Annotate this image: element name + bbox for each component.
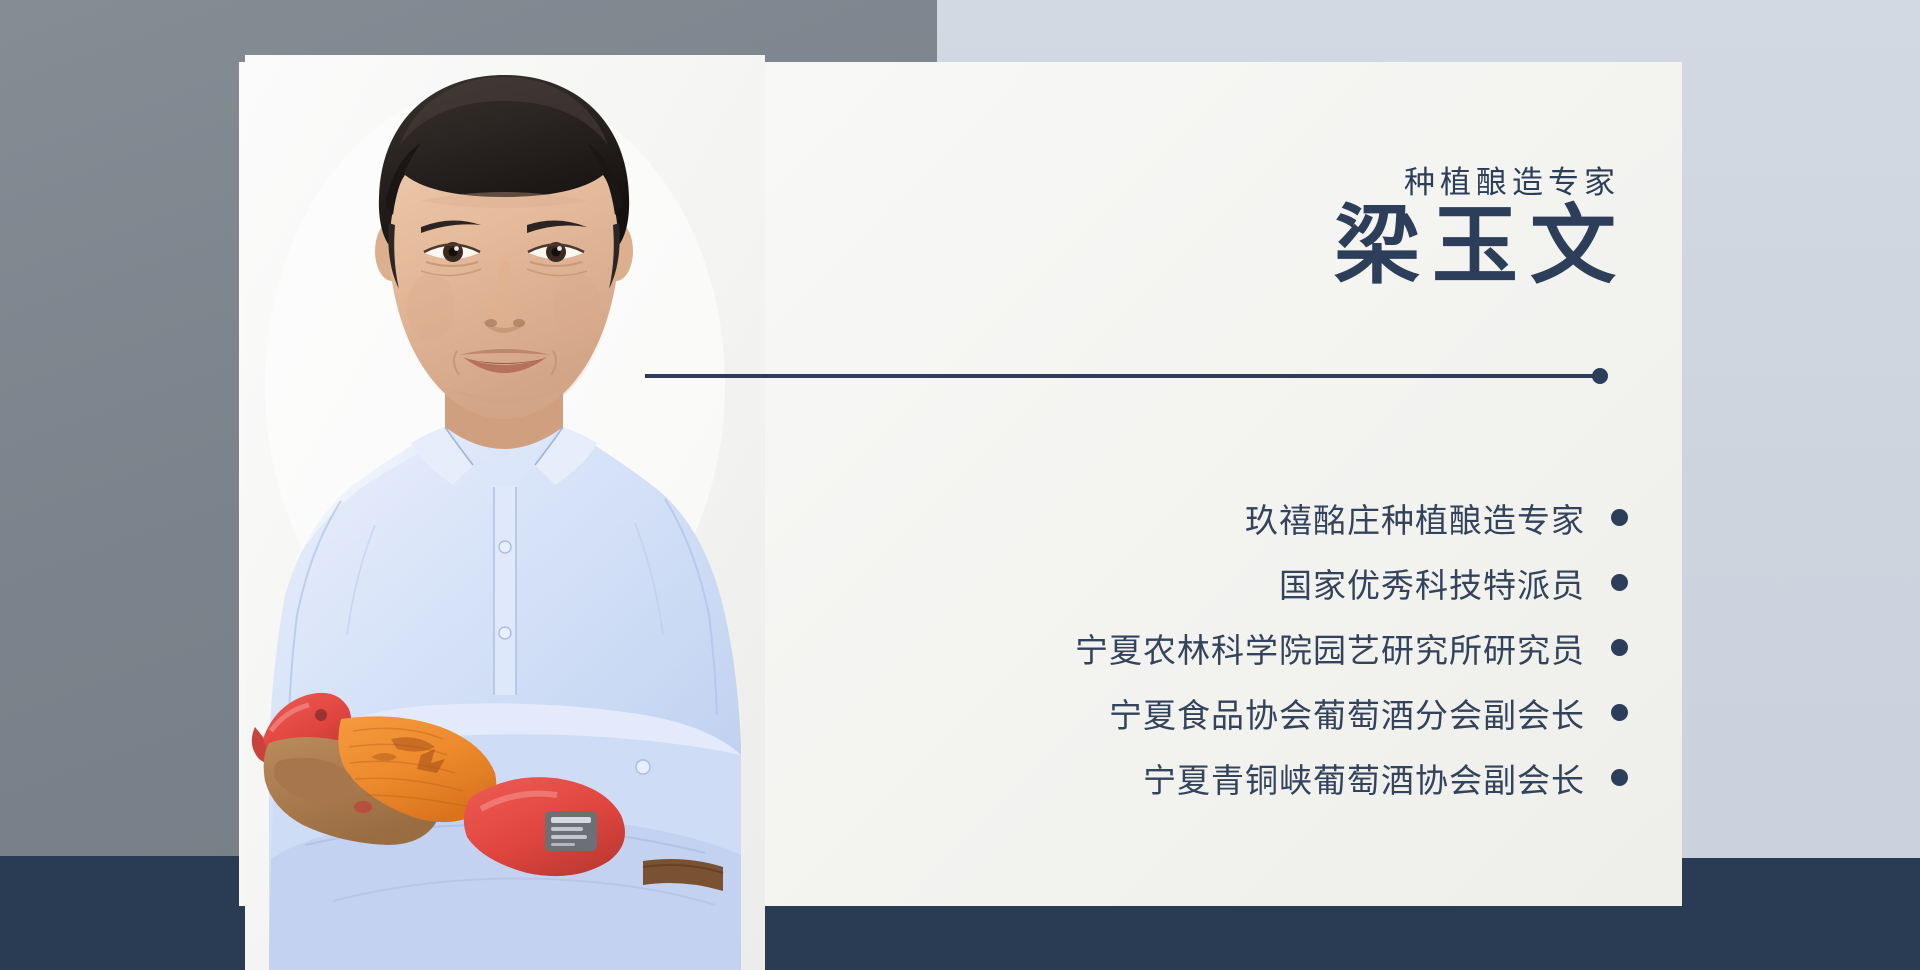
list-item: 宁夏青铜峡葡萄酒协会副会长 <box>868 745 1628 810</box>
portrait-photo <box>245 55 765 970</box>
credential-label: 宁夏青铜峡葡萄酒协会副会长 <box>1143 754 1585 802</box>
poster-canvas: 种植酿造专家 梁玉文 玖禧酩庄种植酿造专家 国家优秀科技特派员 宁夏农林科学院园… <box>0 0 1920 970</box>
divider-line <box>645 374 1600 378</box>
profile-subtitle: 种植酿造专家 <box>1404 157 1620 202</box>
list-item: 玖禧酩庄种植酿造专家 <box>868 485 1628 550</box>
list-item: 宁夏农林科学院园艺研究所研究员 <box>868 615 1628 680</box>
list-item: 国家优秀科技特派员 <box>868 550 1628 615</box>
bullet-dot-icon <box>1611 704 1628 721</box>
list-item: 宁夏食品协会葡萄酒分会副会长 <box>868 680 1628 745</box>
divider-end-dot-icon <box>1592 368 1608 384</box>
credential-label: 国家优秀科技特派员 <box>1279 559 1585 607</box>
bullet-dot-icon <box>1611 639 1628 656</box>
bullet-dot-icon <box>1611 509 1628 526</box>
profile-name: 梁玉文 <box>1334 203 1628 289</box>
bullet-dot-icon <box>1611 769 1628 786</box>
bullet-dot-icon <box>1611 574 1628 591</box>
credential-label: 宁夏食品协会葡萄酒分会副会长 <box>1109 689 1585 737</box>
credential-label: 玖禧酩庄种植酿造专家 <box>1245 494 1585 542</box>
credential-label: 宁夏农林科学院园艺研究所研究员 <box>1075 624 1585 672</box>
portrait-container <box>245 55 765 970</box>
credentials-list: 玖禧酩庄种植酿造专家 国家优秀科技特派员 宁夏农林科学院园艺研究所研究员 宁夏食… <box>868 485 1628 810</box>
